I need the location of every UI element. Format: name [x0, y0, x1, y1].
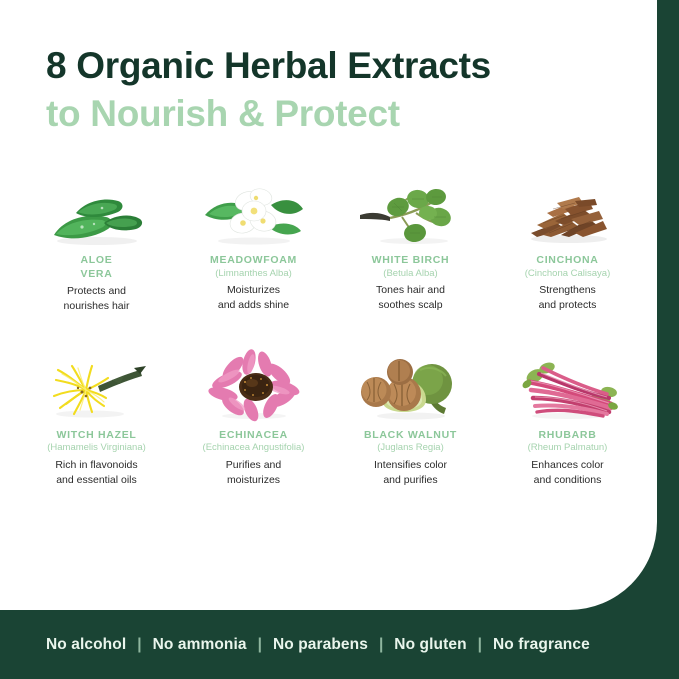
footer-claims-bar: No alcohol | No ammonia | No parabens | …: [0, 610, 679, 679]
herb-name: ALOE VERA: [18, 254, 175, 281]
herb-benefit-line1: Tones hair and: [376, 284, 445, 296]
claim-separator: |: [368, 636, 394, 654]
claim-no-gluten: No gluten: [394, 636, 466, 654]
herb-benefit: Moisturizes and adds shine: [175, 283, 332, 313]
herb-card-cinchona: CINCHONA (Cinchona Calisaya) Strengthens…: [489, 161, 646, 314]
herb-benefit-line1: Enhances color: [531, 459, 603, 471]
headline-secondary: to Nourish & Protect: [46, 92, 637, 136]
herb-name: CINCHONA: [489, 254, 646, 267]
herb-benefit-line2: moisturizes: [227, 474, 280, 486]
rhubarb-stalks-icon: [489, 336, 646, 422]
herb-latin-name: (Cinchona Calisaya): [489, 268, 646, 280]
aloe-vera-icon: [18, 161, 175, 247]
herb-name: ECHINACEA: [175, 429, 332, 442]
herb-card-aloe-vera: ALOE VERA Protects and nourishes hair: [18, 161, 175, 314]
herb-name: RHUBARB: [489, 429, 646, 442]
herb-benefit-line1: Moisturizes: [227, 284, 280, 296]
herb-benefit-line2: and protects: [539, 299, 597, 311]
herb-benefit-line1: Purifies and: [226, 459, 281, 471]
echinacea-flower-icon: [175, 336, 332, 422]
meadowfoam-flower-icon: [175, 161, 332, 247]
herb-card-witch-hazel: WITCH HAZEL (Hamamelis Virginiana) Rich …: [18, 336, 175, 488]
herb-benefit-line1: Protects and: [67, 285, 126, 297]
herb-benefit-line1: Rich in flavonoids: [55, 459, 137, 471]
claim-no-alcohol: No alcohol: [46, 636, 126, 654]
herb-card-black-walnut: BLACK WALNUT (Juglans Regia) Intensifies…: [332, 336, 489, 488]
claim-no-parabens: No parabens: [273, 636, 368, 654]
headline-block: 8 Organic Herbal Extracts to Nourish & P…: [0, 0, 657, 135]
herb-benefit: Strengthens and protects: [489, 283, 646, 313]
witch-hazel-flower-icon: [18, 336, 175, 422]
herb-name: BLACK WALNUT: [332, 429, 489, 442]
herb-latin-name: (Betula Alba): [332, 268, 489, 280]
herb-benefit-line1: Strengthens: [539, 284, 596, 296]
herb-name: WHITE BIRCH: [332, 254, 489, 267]
herb-grid: ALOE VERA Protects and nourishes hair: [0, 161, 657, 509]
herb-name-line1: ALOE: [81, 254, 113, 266]
herb-benefit-line2: and adds shine: [218, 299, 289, 311]
white-birch-branch-icon: [332, 161, 489, 247]
herbal-extracts-infographic: 8 Organic Herbal Extracts to Nourish & P…: [0, 0, 679, 679]
herb-benefit: Purifies and moisturizes: [175, 458, 332, 488]
herb-latin-name: (Rheum Palmatun): [489, 442, 646, 454]
herb-latin-name: (Limnanthes Alba): [175, 268, 332, 280]
herb-benefit: Tones hair and soothes scalp: [332, 283, 489, 313]
claim-separator: |: [247, 636, 273, 654]
herb-benefit: Enhances color and conditions: [489, 458, 646, 488]
claim-separator: |: [126, 636, 152, 654]
herb-benefit-line2: and conditions: [534, 474, 602, 486]
claim-no-fragrance: No fragrance: [493, 636, 590, 654]
infographic-content: 8 Organic Herbal Extracts to Nourish & P…: [0, 0, 657, 610]
claim-no-ammonia: No ammonia: [153, 636, 247, 654]
herb-latin-name: (Echinacea Angustifolia): [175, 442, 332, 454]
claim-separator: |: [467, 636, 493, 654]
herb-name: WITCH HAZEL: [18, 429, 175, 442]
herb-card-white-birch: WHITE BIRCH (Betula Alba) Tones hair and…: [332, 161, 489, 314]
herb-benefit-line2: and purifies: [383, 474, 437, 486]
black-walnut-icon: [332, 336, 489, 422]
herb-benefit-line1: Intensifies color: [374, 459, 447, 471]
headline-primary: 8 Organic Herbal Extracts: [46, 44, 637, 88]
herb-card-meadowfoam: MEADOWFOAM (Limnanthes Alba) Moisturizes…: [175, 161, 332, 314]
herb-card-rhubarb: RHUBARB (Rheum Palmatun) Enhances color …: [489, 336, 646, 488]
herb-benefit: Rich in flavonoids and essential oils: [18, 458, 175, 488]
herb-latin-name: (Hamamelis Virginiana): [18, 442, 175, 454]
herb-card-echinacea: ECHINACEA (Echinacea Angustifolia) Purif…: [175, 336, 332, 488]
herb-benefit: Intensifies color and purifies: [332, 458, 489, 488]
herb-benefit-line2: and essential oils: [56, 474, 137, 486]
footer-claims-list: No alcohol | No ammonia | No parabens | …: [0, 636, 590, 654]
herb-name: MEADOWFOAM: [175, 254, 332, 267]
herb-benefit-line2: soothes scalp: [378, 299, 442, 311]
cinchona-bark-icon: [489, 161, 646, 247]
herb-benefit-line2: nourishes hair: [64, 300, 130, 312]
herb-latin-name: (Juglans Regia): [332, 442, 489, 454]
herb-benefit: Protects and nourishes hair: [18, 284, 175, 314]
herb-name-line2: VERA: [81, 268, 113, 280]
